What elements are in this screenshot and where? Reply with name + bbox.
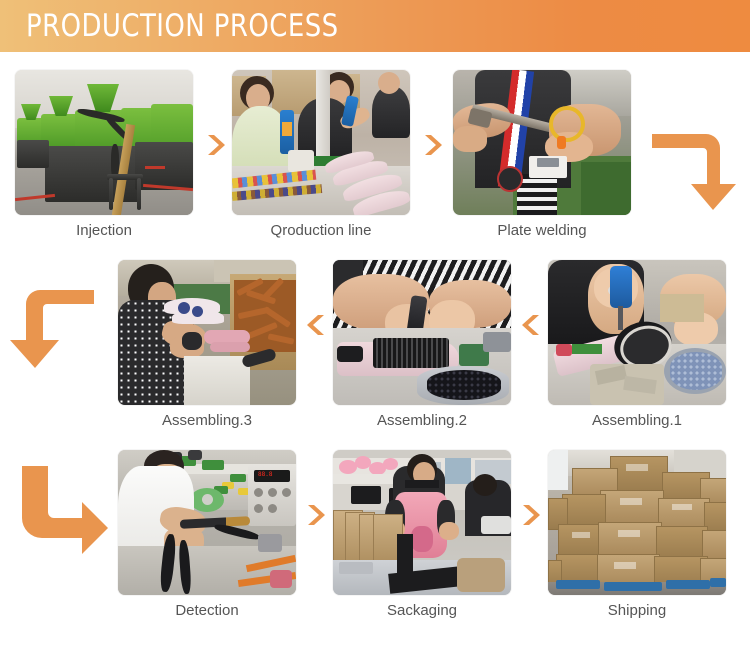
connector-arrow-right-4 <box>518 502 544 528</box>
step-assembling-1-photo[interactable] <box>548 260 726 405</box>
step-injection-photo[interactable] <box>15 70 193 215</box>
connector-elbow-down-right <box>12 462 112 562</box>
step-assembling-3-caption: Assembling.3 <box>118 412 296 429</box>
step-assembling-3-photo[interactable] <box>118 260 296 405</box>
step-injection-caption: Injection <box>15 222 193 239</box>
step-packaging-caption: Sackaging <box>333 602 511 619</box>
connector-elbow-right-down <box>648 122 740 214</box>
step-shipping-caption: Shipping <box>548 602 726 619</box>
step-production-line-photo[interactable] <box>232 70 410 215</box>
step-assembling-2-caption: Assembling.2 <box>333 412 511 429</box>
connector-arrow-left-2 <box>518 312 544 338</box>
step-assembling-1-caption: Assembling.1 <box>548 412 726 429</box>
page-title: PRODUCTION PROCESS <box>26 8 339 44</box>
step-plate-welding-photo[interactable] <box>453 70 631 215</box>
connector-arrow-right-1 <box>203 132 229 158</box>
step-assembling-2-photo[interactable] <box>333 260 511 405</box>
step-detection-photo[interactable]: 88.8 <box>118 450 296 595</box>
connector-arrow-right-2 <box>420 132 446 158</box>
page-header: PRODUCTION PROCESS <box>0 0 750 52</box>
process-row-3: 88.8 <box>0 440 750 630</box>
connector-arrow-left-1 <box>303 312 329 338</box>
connector-arrow-right-3 <box>303 502 329 528</box>
step-packaging-photo[interactable] <box>333 450 511 595</box>
process-row-2: Assembling.3 <box>0 250 750 430</box>
step-shipping-photo[interactable] <box>548 450 726 595</box>
process-row-1: Injection <box>0 60 750 240</box>
step-detection-caption: Detection <box>118 602 296 619</box>
step-plate-welding-caption: Plate welding <box>453 222 631 239</box>
step-production-line-caption: Qroduction line <box>232 222 410 239</box>
connector-elbow-left-down <box>2 278 98 374</box>
